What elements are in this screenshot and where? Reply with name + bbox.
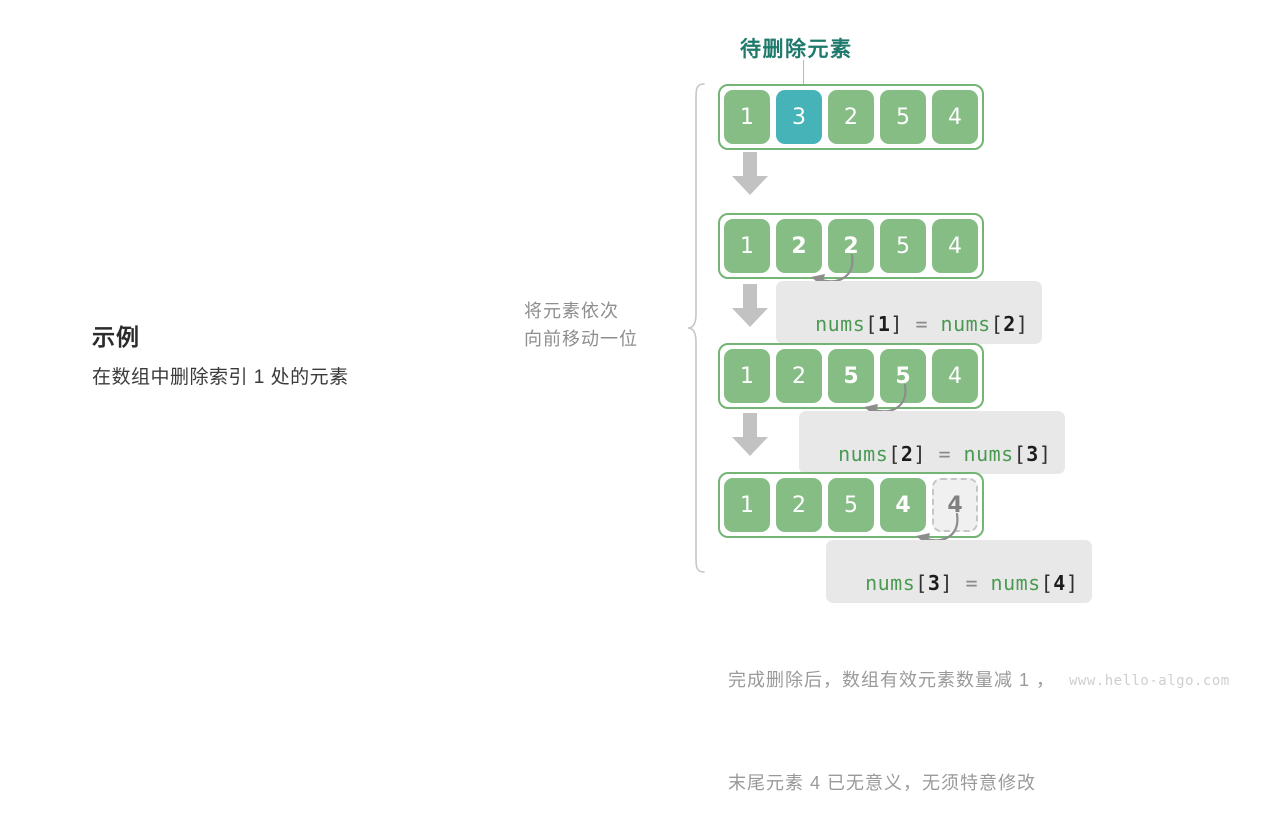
array-cell[interactable]: 4 bbox=[932, 90, 978, 144]
footer-note-line-2: 末尾元素 4 已无意义，无须特意修改 bbox=[728, 766, 1055, 800]
example-caption: 示例 在数组中删除索引 1 处的元素 bbox=[92, 322, 492, 392]
code-target-index: 2 bbox=[901, 442, 914, 466]
array-cell-written[interactable]: 4 bbox=[880, 478, 926, 532]
array-row-step2: 1 2 5 5 4 bbox=[718, 343, 984, 409]
code-target-name: nums bbox=[865, 571, 915, 595]
delete-target-label: 待删除元素 bbox=[740, 33, 853, 63]
shift-annotation-line-2: 向前移动一位 bbox=[524, 326, 684, 354]
array-cell-written[interactable]: 2 bbox=[776, 219, 822, 273]
array-cell-selected[interactable]: 3 bbox=[776, 90, 822, 144]
code-label-step3: nums[3] = nums[4] bbox=[826, 540, 1092, 603]
code-operator: = bbox=[965, 571, 978, 595]
code-source-index: 3 bbox=[1026, 442, 1039, 466]
code-source-index: 2 bbox=[1003, 312, 1016, 336]
array-cell[interactable]: 5 bbox=[828, 478, 874, 532]
down-arrow-icon bbox=[731, 413, 769, 457]
array-cell[interactable]: 1 bbox=[724, 349, 770, 403]
page-subtitle: 在数组中删除索引 1 处的元素 bbox=[92, 365, 492, 392]
code-operator: = bbox=[938, 442, 951, 466]
footer-note-line-1: 完成删除后，数组有效元素数量减 1 ， bbox=[728, 663, 1055, 697]
down-arrow-icon bbox=[731, 152, 769, 196]
array-cell[interactable]: 1 bbox=[724, 478, 770, 532]
code-source-name: nums bbox=[941, 312, 991, 336]
array-cell-written[interactable]: 5 bbox=[828, 349, 874, 403]
shift-annotation-line-1: 将元素依次 bbox=[524, 298, 684, 326]
code-source-index: 4 bbox=[1053, 571, 1066, 595]
array-cell[interactable]: 5 bbox=[880, 90, 926, 144]
array-cell[interactable]: 4 bbox=[932, 349, 978, 403]
array-cell[interactable]: 1 bbox=[724, 90, 770, 144]
array-cell-source[interactable]: 5 bbox=[880, 349, 926, 403]
array-cell[interactable]: 5 bbox=[880, 219, 926, 273]
down-arrow-icon bbox=[731, 284, 769, 328]
array-cell-invalid[interactable]: 4 bbox=[932, 478, 978, 532]
array-row-step3: 1 2 5 4 4 bbox=[718, 472, 984, 538]
array-cell-source[interactable]: 2 bbox=[828, 219, 874, 273]
array-cell[interactable]: 1 bbox=[724, 219, 770, 273]
array-cell[interactable]: 2 bbox=[828, 90, 874, 144]
grouping-brace bbox=[686, 82, 708, 574]
array-cell[interactable]: 2 bbox=[776, 478, 822, 532]
footer-note: 完成删除后，数组有效元素数量减 1 ， 末尾元素 4 已无意义，无须特意修改 bbox=[728, 595, 1055, 834]
page-title: 示例 bbox=[92, 322, 492, 353]
code-target-name: nums bbox=[838, 442, 888, 466]
watermark: www.hello-algo.com bbox=[1069, 673, 1230, 689]
code-target-name: nums bbox=[815, 312, 865, 336]
code-operator: = bbox=[915, 312, 928, 336]
array-row-initial: 1 3 2 5 4 bbox=[718, 84, 984, 150]
array-cell[interactable]: 2 bbox=[776, 349, 822, 403]
code-target-index: 1 bbox=[878, 312, 891, 336]
code-source-name: nums bbox=[991, 571, 1041, 595]
code-label-step2: nums[2] = nums[3] bbox=[799, 411, 1065, 474]
code-label-step1: nums[1] = nums[2] bbox=[776, 281, 1042, 344]
code-source-name: nums bbox=[964, 442, 1014, 466]
array-row-step1: 1 2 2 5 4 bbox=[718, 213, 984, 279]
array-cell[interactable]: 4 bbox=[932, 219, 978, 273]
shift-annotation: 将元素依次 向前移动一位 bbox=[524, 298, 684, 354]
code-target-index: 3 bbox=[928, 571, 941, 595]
